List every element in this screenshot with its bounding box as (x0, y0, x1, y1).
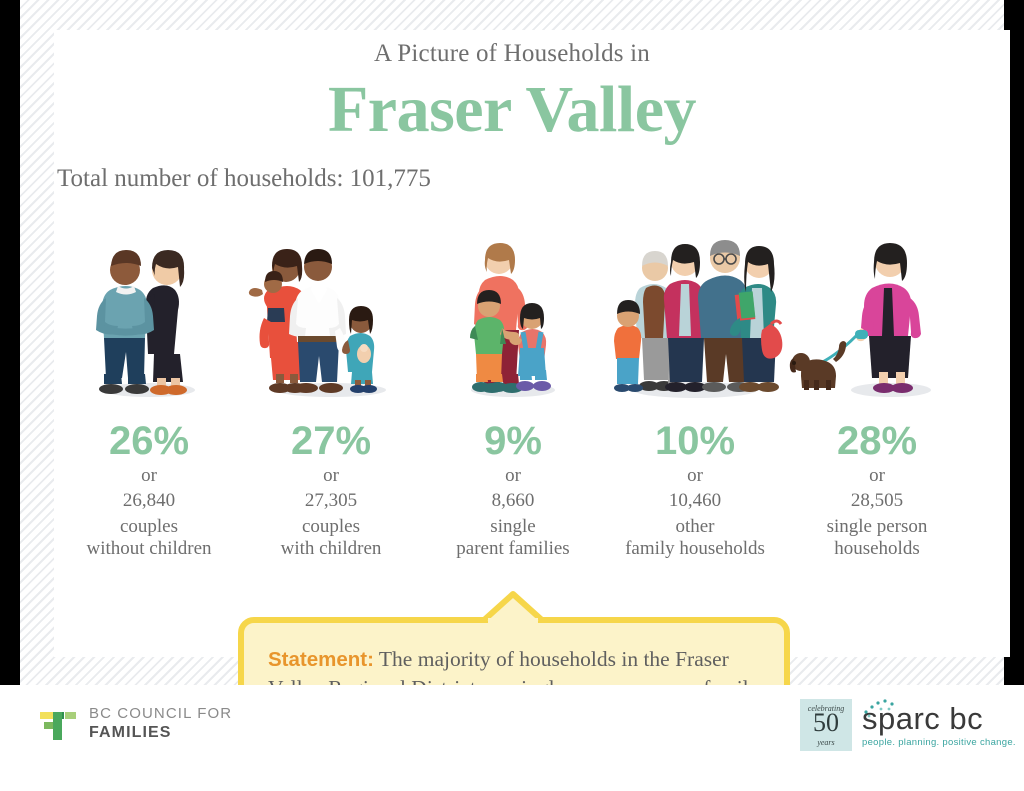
bccf-mark-icon (38, 704, 78, 744)
or-label: or (505, 465, 521, 487)
or-label: or (141, 465, 157, 487)
household-label: other family households (625, 516, 765, 560)
household-label: couples without children (86, 516, 211, 560)
sparc-dots-icon (860, 698, 906, 720)
sparc-bc-logo[interactable]: celebrating 50 years sparc bc people. pl… (800, 699, 1016, 751)
page-kicker: A Picture of Households in (0, 40, 1024, 68)
bccf-line-1: BC COUNCIL FOR (89, 705, 232, 724)
bccf-line-2: FAMILIES (89, 723, 232, 743)
percent-value: 26% (109, 420, 189, 462)
couple-with-children-illustration (240, 232, 422, 402)
or-label: or (869, 465, 885, 487)
celebrating-50-years-badge: celebrating 50 years (800, 699, 852, 751)
single-person-household-illustration (786, 232, 968, 402)
household-label: single person households (827, 516, 928, 560)
couple-without-children-illustration (58, 232, 240, 402)
or-label: or (687, 465, 703, 487)
single-parent-family-illustration (422, 232, 604, 402)
household-count: 27,305 (305, 490, 357, 512)
household-column: 9% or 8,660 single parent families (422, 232, 604, 560)
or-label: or (323, 465, 339, 487)
other-family-households-illustration (604, 232, 786, 402)
percent-value: 28% (837, 420, 917, 462)
household-count: 10,460 (669, 490, 721, 512)
household-count: 8,660 (492, 490, 535, 512)
percent-value: 27% (291, 420, 371, 462)
household-column: 27% or 27,305 couples with children (240, 232, 422, 560)
percent-value: 10% (655, 420, 735, 462)
household-column: 26% or 26,840 couples without children (58, 232, 240, 560)
footer-bar: BC COUNCIL FOR FAMILIES celebrating 50 y… (0, 685, 1024, 791)
page-title: Fraser Valley (0, 75, 1024, 144)
household-label: couples with children (281, 516, 382, 560)
household-count: 28,505 (851, 490, 903, 512)
household-column: 28% or 28,505 single person households (786, 232, 968, 560)
badge-bottom-text: years (800, 738, 852, 747)
household-column: 10% or 10,460 other family households (604, 232, 786, 560)
badge-number: 50 (800, 710, 852, 736)
household-label: single parent families (456, 516, 569, 560)
household-type-columns: 26% or 26,840 couples without children (34, 215, 990, 560)
sparc-tagline: people. planning. positive change. (862, 738, 1016, 748)
bc-council-for-families-logo[interactable]: BC COUNCIL FOR FAMILIES (38, 704, 232, 744)
percent-value: 9% (484, 420, 542, 462)
statement-label: Statement: (268, 648, 374, 671)
household-count: 26,840 (123, 490, 175, 512)
total-households-line: Total number of households: 101,775 (57, 165, 431, 193)
callout-pointer-arrow (482, 591, 544, 623)
